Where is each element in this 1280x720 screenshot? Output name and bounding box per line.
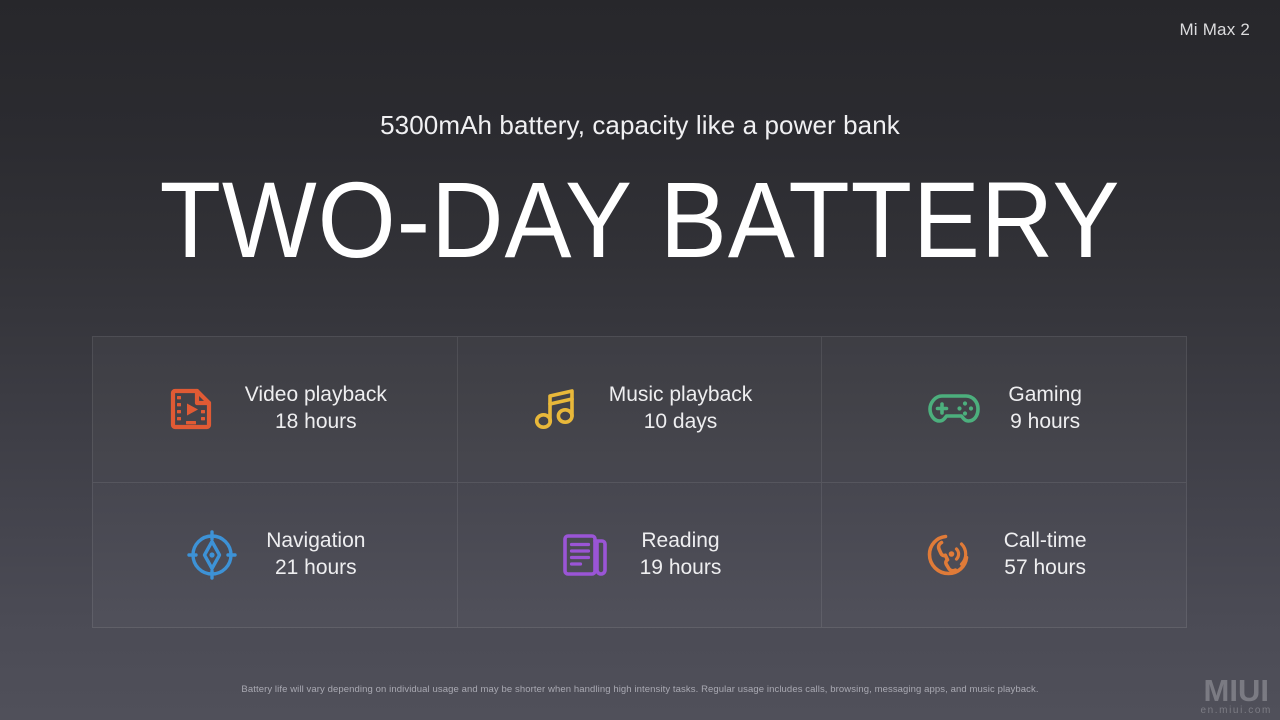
grid-cell-music-playback: Music playback 10 days: [458, 337, 823, 483]
cell-label: Music playback: [609, 382, 753, 409]
navigation-icon: [184, 527, 240, 583]
cell-label: Call-time: [1004, 528, 1087, 555]
grid-cell-call-time: Call-time 57 hours: [822, 483, 1187, 629]
cell-value: 19 hours: [640, 555, 722, 582]
cell-text-block: Reading 19 hours: [640, 528, 722, 582]
cell-text-block: Video playback 18 hours: [245, 382, 387, 436]
grid-cell-video-playback: Video playback 18 hours: [93, 337, 458, 483]
cell-value: 9 hours: [1010, 409, 1080, 436]
music-playback-icon: [527, 381, 583, 437]
cell-value: 21 hours: [275, 555, 357, 582]
cell-text-block: Call-time 57 hours: [1004, 528, 1087, 582]
cell-label: Reading: [641, 528, 719, 555]
page-title: TWO-DAY BATTERY: [45, 166, 1235, 274]
battery-usage-grid: Video playback 18 hours Music playback 1…: [92, 336, 1187, 628]
miui-watermark: MIUI en.miui.com: [1200, 676, 1272, 716]
cell-label: Navigation: [266, 528, 365, 555]
cell-value: 57 hours: [1004, 555, 1086, 582]
cell-label: Gaming: [1008, 382, 1082, 409]
hero-subtitle: 5300mAh battery, capacity like a power b…: [0, 110, 1280, 141]
footer-disclaimer: Battery life will vary depending on indi…: [0, 684, 1280, 695]
grid-cell-reading: Reading 19 hours: [458, 483, 823, 629]
gaming-icon: [926, 381, 982, 437]
cell-text-block: Music playback 10 days: [609, 382, 753, 436]
cell-text-block: Gaming 9 hours: [1008, 382, 1082, 436]
grid-cell-gaming: Gaming 9 hours: [822, 337, 1187, 483]
video-playback-icon: [163, 381, 219, 437]
device-brand-label: Mi Max 2: [1179, 20, 1250, 40]
cell-value: 18 hours: [275, 409, 357, 436]
call-time-icon: [922, 527, 978, 583]
grid-cell-navigation: Navigation 21 hours: [93, 483, 458, 629]
watermark-url-text: en.miui.com: [1200, 705, 1272, 716]
cell-label: Video playback: [245, 382, 387, 409]
cell-value: 10 days: [644, 409, 718, 436]
reading-icon: [558, 527, 614, 583]
cell-text-block: Navigation 21 hours: [266, 528, 365, 582]
